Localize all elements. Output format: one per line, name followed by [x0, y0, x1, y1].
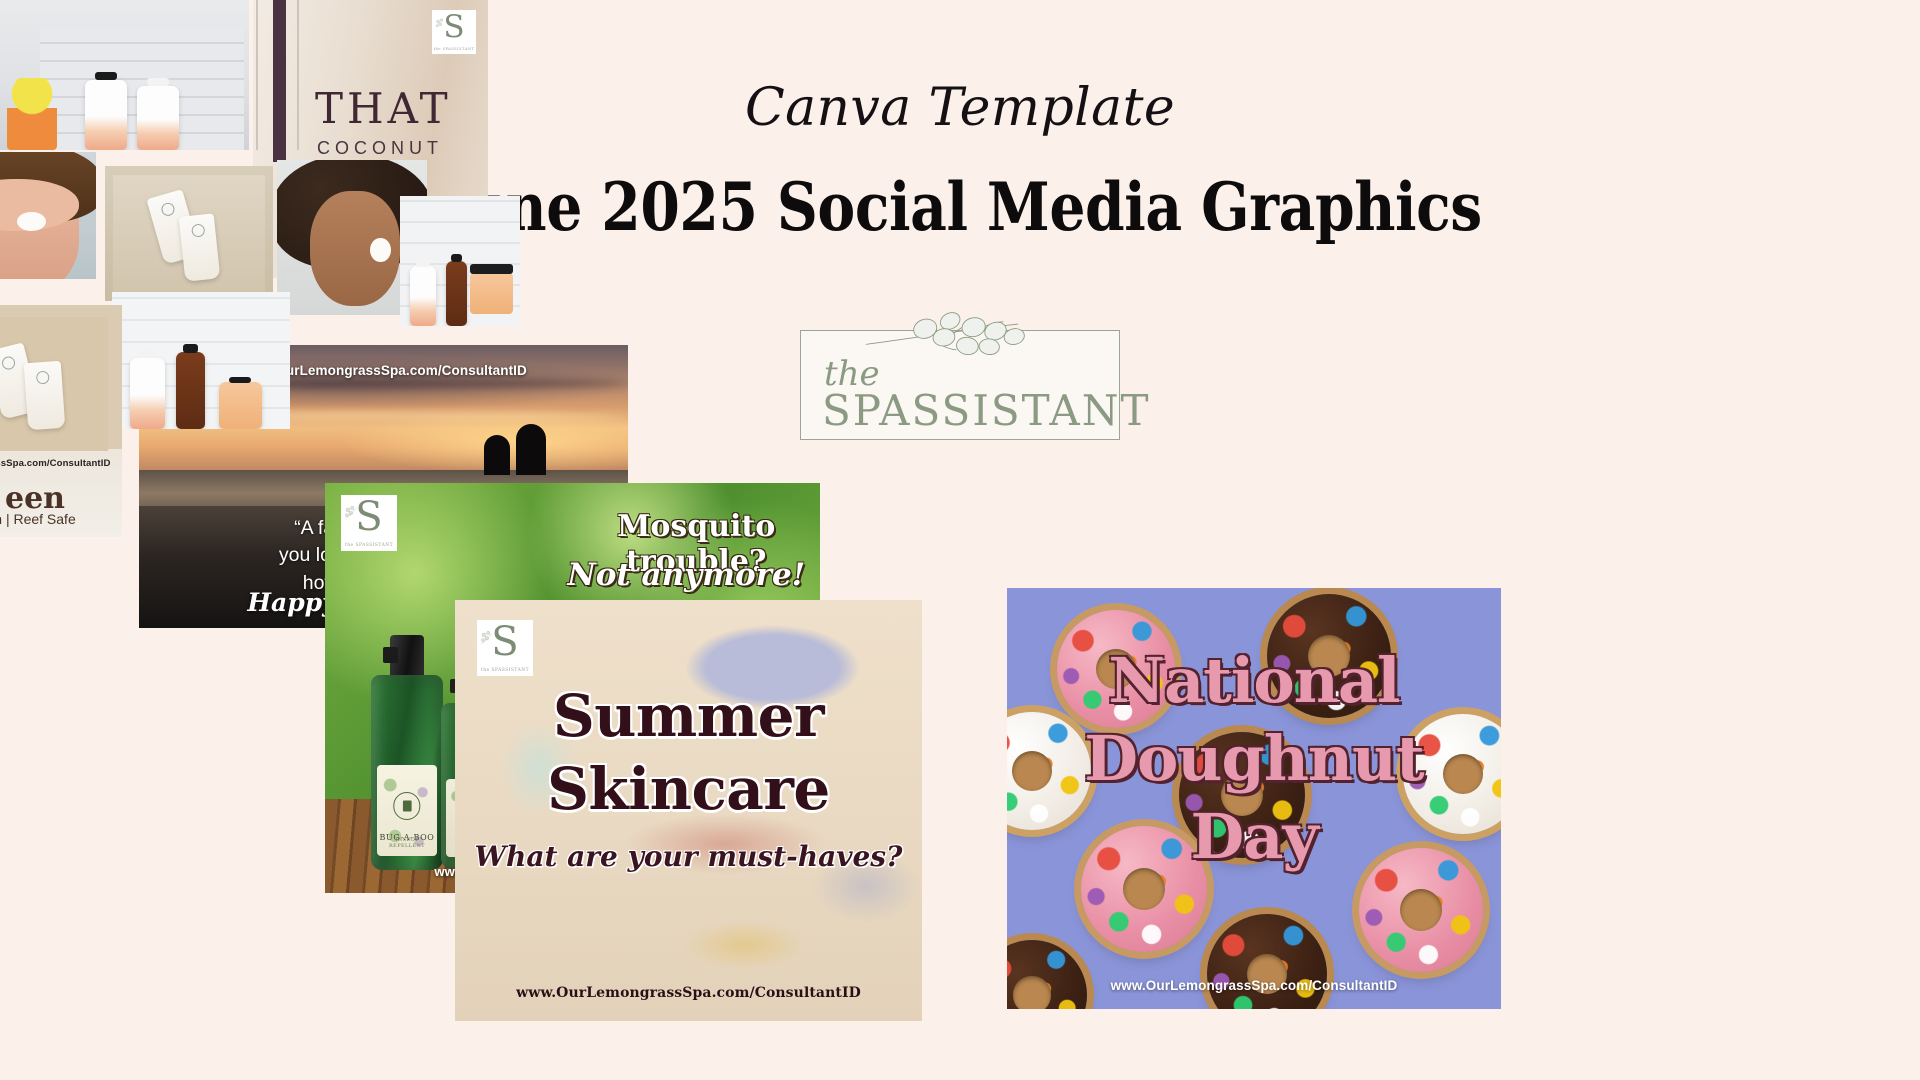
- scrub-jar: [219, 382, 262, 429]
- skincare-title-1: Summer: [455, 682, 922, 750]
- tile-shampoo-conditioner: [0, 0, 249, 150]
- doughnut-line-1: National: [1007, 644, 1501, 717]
- sunscreen-subtitle: n | Reef Safe: [0, 511, 122, 527]
- product-bottle-front: BUG-A-BOO INSECT REPELLENT: [371, 635, 443, 870]
- doughnut-line-2: Doughnut: [1007, 722, 1501, 795]
- badge-letter: S: [341, 497, 397, 537]
- shampoo-bottle: [85, 80, 127, 151]
- skincare-subtitle: What are your must-haves?: [455, 840, 922, 873]
- doughnut-line-3: Day: [1007, 800, 1501, 873]
- card-url: www.OurLemongrassSpa.com/ConsultantID: [455, 985, 922, 1001]
- tile-cream-tubes-on-sand: [105, 166, 273, 301]
- badge-caption: the SPASSISTANT: [432, 47, 476, 51]
- body-spray-bottle: [446, 261, 468, 326]
- father-child-silhouette-icon: [482, 421, 556, 475]
- spray-bottle: [176, 352, 204, 429]
- tile-product-shelf: [112, 292, 290, 429]
- card-national-doughnut-day[interactable]: National Doughnut Day www.OurLemongrassS…: [1007, 588, 1501, 1009]
- brand-badge: S the SPASSISTANT: [432, 10, 476, 54]
- sunscreen-photo: [0, 317, 108, 452]
- body-scrub-jar: [470, 273, 513, 315]
- mosquito-headline-2: Not anymore!: [563, 557, 811, 593]
- sunscreen-tube: [24, 361, 65, 431]
- bottle-product-sub: INSECT REPELLENT: [377, 837, 438, 849]
- brand-badge: S the SPASSISTANT: [477, 620, 533, 676]
- flower-vase-icon: [7, 78, 57, 150]
- brand-badge: S the SPASSISTANT: [341, 495, 397, 551]
- card-url: www.OurLemongrassSpa.com/ConsultantID: [1007, 978, 1501, 993]
- card-url: mongrassSpa.com/ConsultantID: [0, 458, 122, 469]
- badge-caption: the SPASSISTANT: [341, 543, 397, 548]
- badge-letter: S: [477, 622, 533, 662]
- body-wash-bottle: [410, 266, 436, 326]
- badge-caption: the SPASSISTANT: [477, 668, 533, 673]
- lotion-bottle: [130, 358, 166, 429]
- tile-coconut-product-set: [400, 196, 520, 326]
- brand-logo: the SPASSISTANT: [800, 330, 1120, 440]
- that-word: THAT: [315, 84, 452, 133]
- coconut-word: COCONUT: [317, 138, 443, 159]
- skincare-title-2: Skincare: [455, 755, 922, 823]
- poster-canvas: Canva Template June 2025 Social Media Gr…: [0, 0, 1920, 1080]
- badge-letter: S: [432, 12, 476, 43]
- tile-woman-applying-cream-a: [0, 152, 96, 279]
- tile-sunscreen: mongrassSpa.com/ConsultantID een n | Ree…: [0, 305, 122, 537]
- cream-tube: [179, 213, 221, 281]
- card-summer-skincare[interactable]: S the SPASSISTANT Summer Skincare What a…: [455, 600, 922, 1021]
- logo-name: SPASSISTANT: [822, 386, 1104, 435]
- eucalyptus-sprig-icon: [858, 306, 1108, 364]
- conditioner-bottle: [137, 86, 179, 151]
